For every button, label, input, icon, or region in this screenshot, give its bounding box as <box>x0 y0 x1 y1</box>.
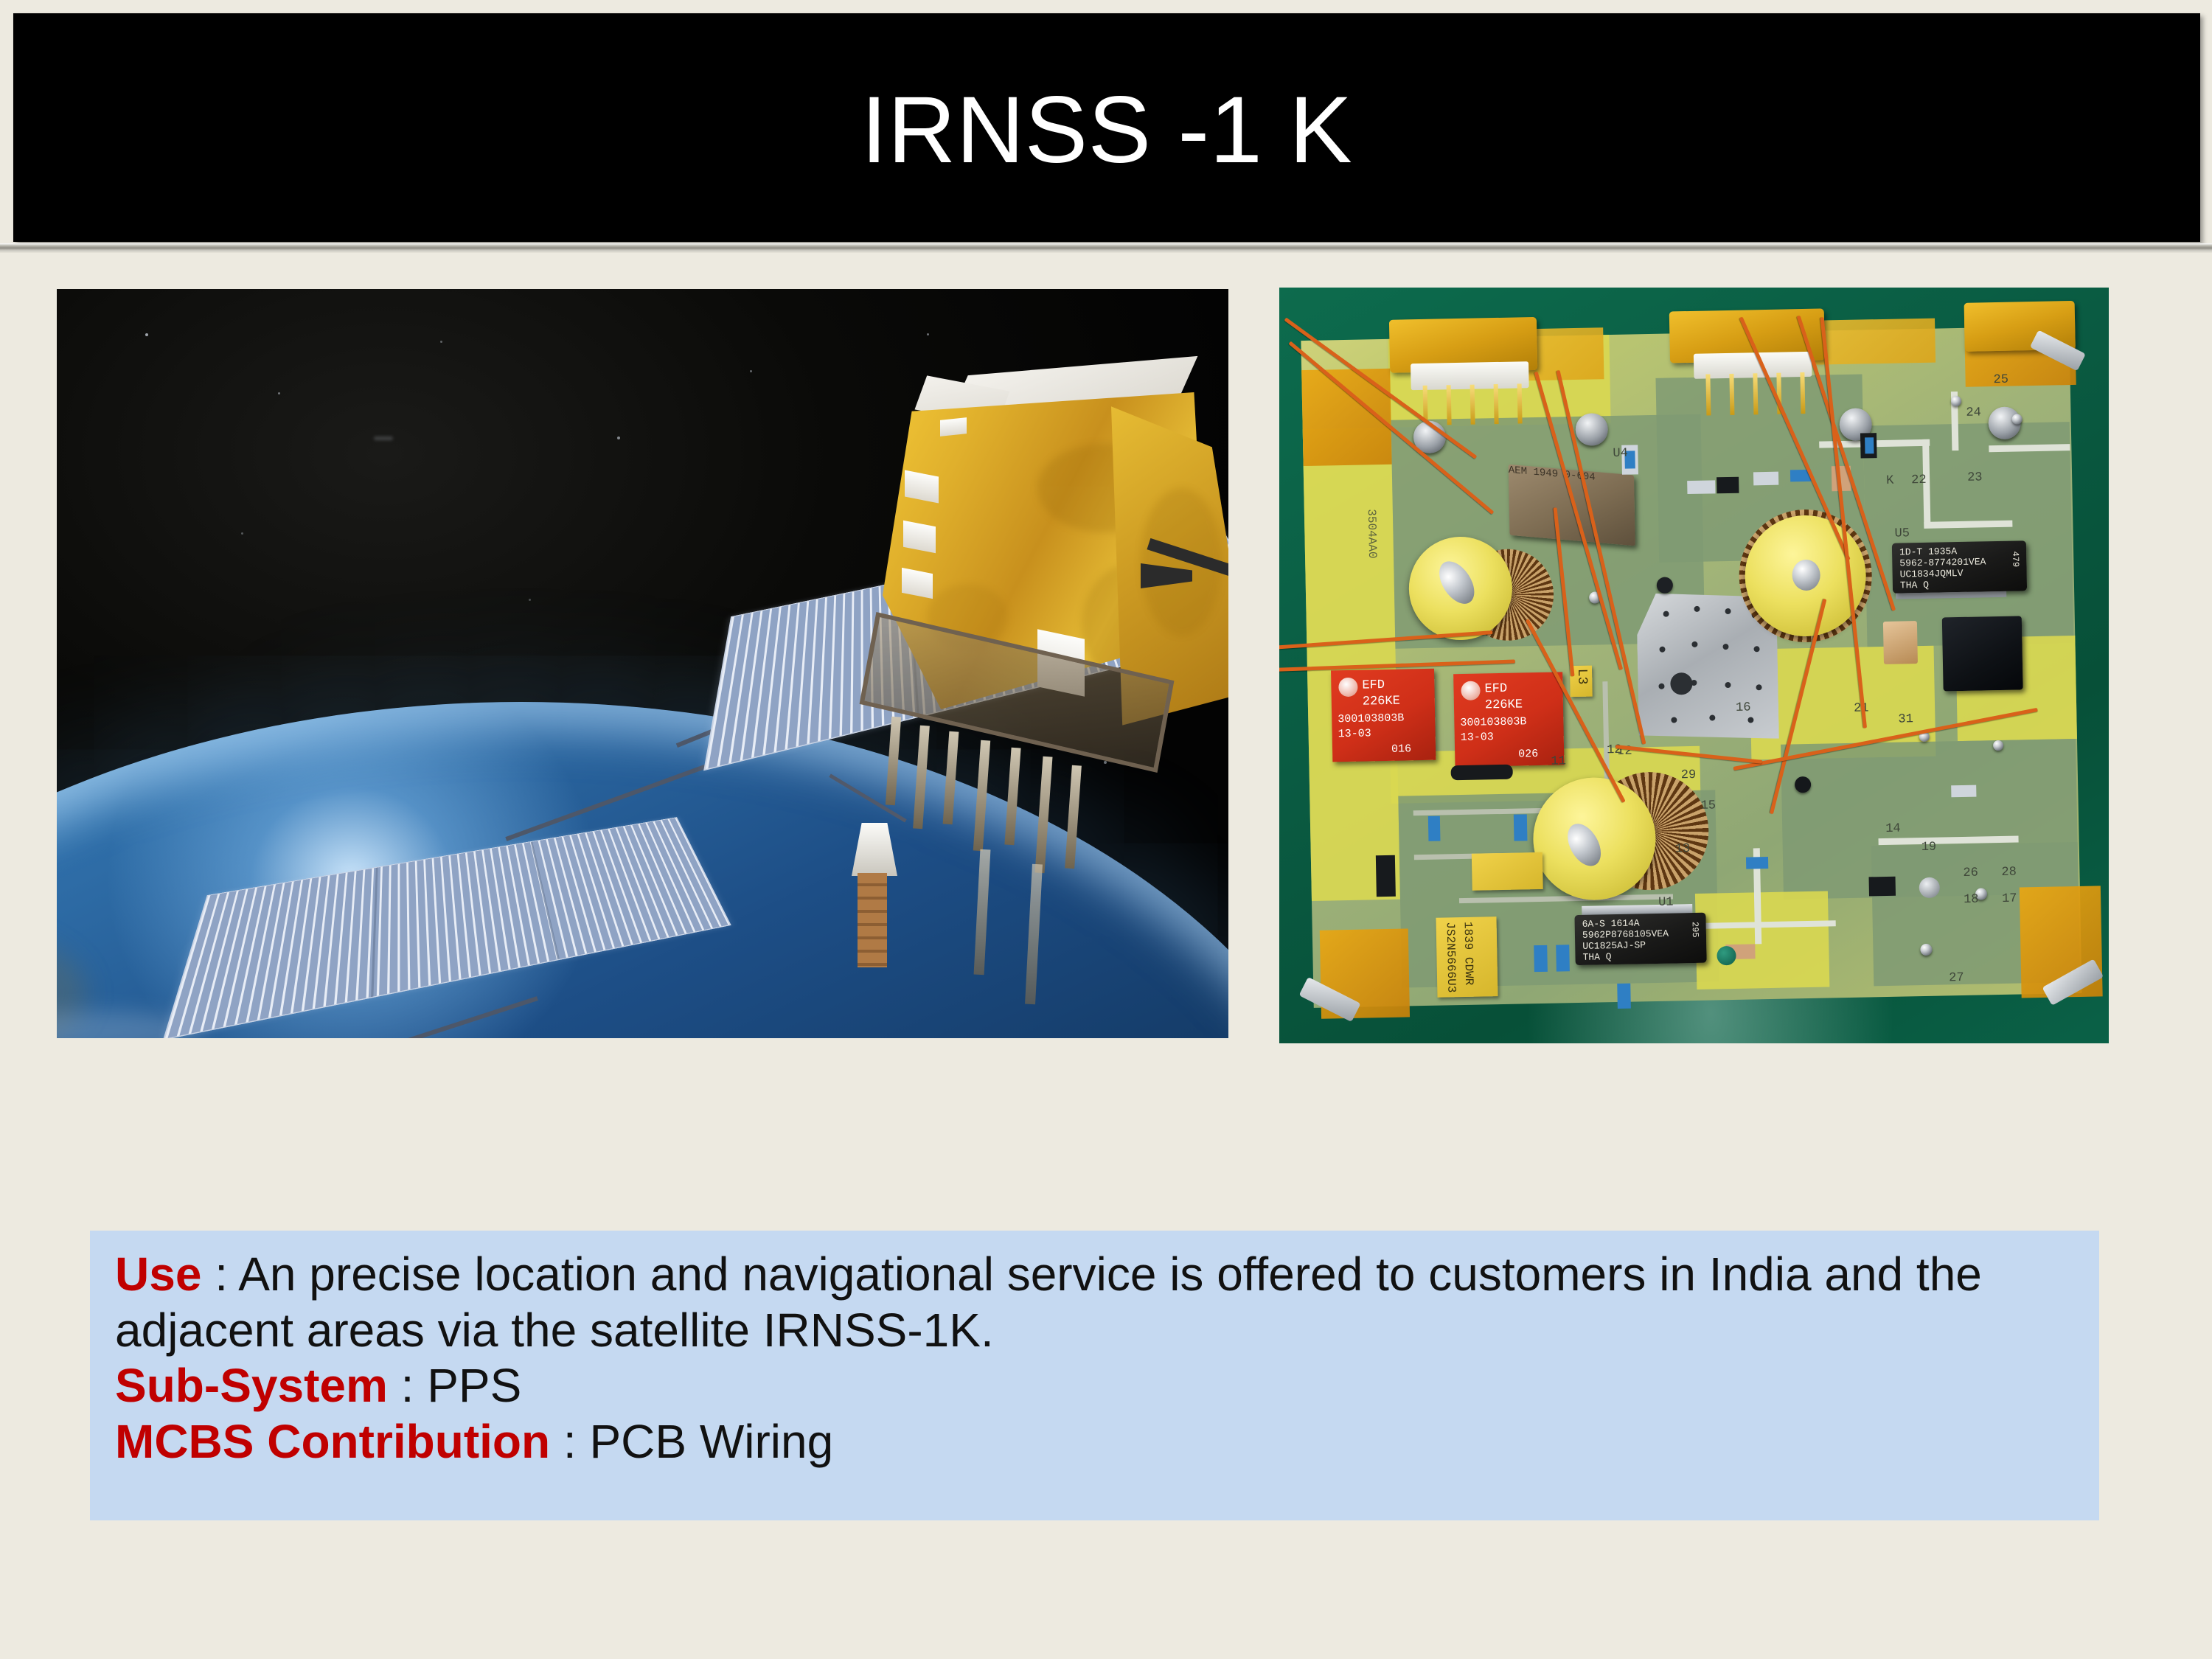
silkscreen-label: 14 <box>1885 822 1901 836</box>
caption-line-use: Use : An precise location and navigation… <box>115 1247 2080 1358</box>
printed-circuit-board: AEM 1949 0-604 <box>1301 326 2081 1008</box>
silkscreen-label: 18 <box>1964 893 1979 907</box>
silkscreen-label: 16 <box>1736 700 1751 714</box>
silkscreen-label: 28 <box>2001 866 2017 880</box>
star <box>145 333 148 336</box>
star <box>241 532 243 535</box>
silkscreen-u1: U1 <box>1658 896 1674 910</box>
silkscreen-label: 13 <box>1675 842 1691 856</box>
caption-key-mcbs: MCBS Contribution <box>115 1415 550 1468</box>
red-capacitor-1: EFD 226KE 300103803B 13-03 016 <box>1331 669 1436 762</box>
star <box>529 599 531 601</box>
silkscreen-label: 24 <box>1966 406 1981 420</box>
title-bar: IRNSS -1 K <box>13 13 2200 242</box>
tan-capacitor <box>1883 621 1918 664</box>
caption-value-use: An precise location and navigational ser… <box>115 1248 1982 1357</box>
caption-line-mcbs: MCBS Contribution : PCB Wiring <box>115 1414 2080 1470</box>
caption-line-subsystem: Sub-System : PPS <box>115 1358 2080 1414</box>
star <box>927 333 929 335</box>
instrument-box <box>940 417 967 437</box>
title-divider <box>0 243 2212 253</box>
caption-sep-use: : <box>201 1248 238 1301</box>
silkscreen-label: 17 <box>2002 892 2017 906</box>
silkscreen-label: 25 <box>1993 373 2008 387</box>
panel-seam <box>371 868 378 998</box>
caption-key-subsystem: Sub-System <box>115 1359 388 1412</box>
silkscreen-label: 29 <box>1681 768 1697 782</box>
silkscreen-label: 27 <box>1949 971 1964 985</box>
silkscreen-u5: U5 <box>1894 526 1910 540</box>
transistor-can: JS2N5666U3 1839 CDWR <box>1436 917 1498 998</box>
caption-sep-mcbs: : <box>550 1415 589 1468</box>
caption-content: Use : An precise location and navigation… <box>115 1247 2080 1470</box>
panel-seam <box>531 842 560 960</box>
caption-value-subsystem: PPS <box>427 1359 521 1412</box>
red-capacitor-2: EFD 226KE 300103803B 13-03 026 <box>1453 672 1564 767</box>
silkscreen-label: U4 <box>1613 447 1628 461</box>
star <box>278 392 280 394</box>
star <box>1104 761 1107 764</box>
slide-canvas: IRNSS -1 K <box>0 0 2212 1659</box>
silkscreen-label: 11 <box>1551 754 1566 768</box>
power-module <box>1942 616 2023 691</box>
silkscreen-label: 19 <box>1921 841 1937 855</box>
silkscreen-label: 23 <box>1967 470 1983 484</box>
satellite-photo <box>57 289 1228 1038</box>
page-title: IRNSS -1 K <box>861 83 1353 178</box>
silkscreen-label: K <box>1886 474 1894 488</box>
star-streak <box>374 437 393 440</box>
star <box>440 341 442 343</box>
caption-box: Use : An precise location and navigation… <box>90 1231 2099 1520</box>
caption-sep-subsystem: : <box>388 1359 427 1412</box>
star <box>617 437 620 439</box>
small-gold-component <box>1472 852 1543 891</box>
silkscreen-label: 31 <box>1898 712 1913 726</box>
silkscreen-label: 22 <box>1911 473 1927 487</box>
silkscreen-label: 15 <box>1700 799 1716 813</box>
caption-value-mcbs: PCB Wiring <box>589 1415 833 1468</box>
pcb-photo: AEM 1949 0-604 <box>1279 288 2109 1043</box>
star <box>750 370 752 372</box>
silkscreen-label: 26 <box>1963 866 1978 880</box>
caption-key-use: Use <box>115 1248 201 1301</box>
